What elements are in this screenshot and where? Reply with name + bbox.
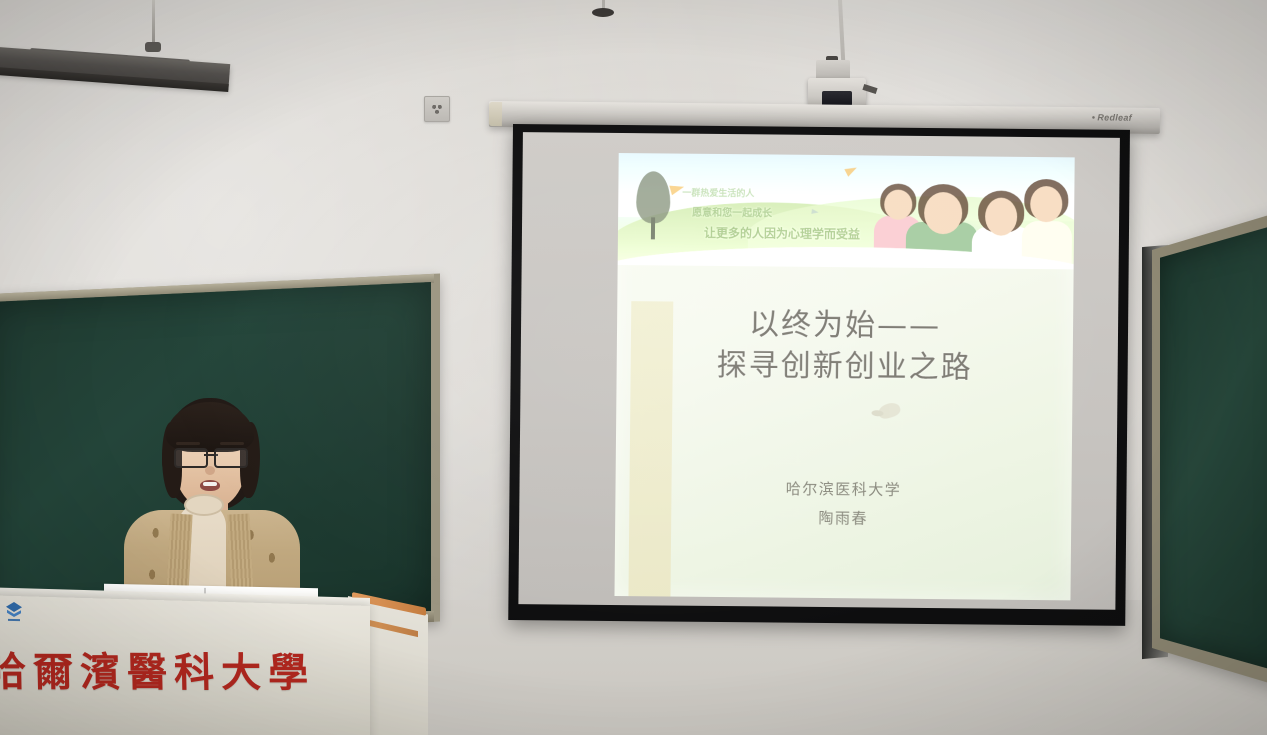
presenter-eyebrow-left [176, 442, 200, 445]
presenter-eyebrow-right [220, 442, 244, 445]
university-logo-icon [4, 601, 24, 624]
light-mount [145, 42, 161, 52]
eyeglasses-icon [174, 448, 248, 464]
screen-brand-label: Redleaf [1092, 112, 1132, 122]
chalkboard-right-surface [1160, 221, 1267, 674]
dove-icon [877, 401, 902, 421]
slide-presenter-name: 陶雨春 [615, 502, 1071, 535]
banner-line-1: 一群热爱生活的人 [682, 186, 978, 202]
lecture-hall-screenshot: Redleaf [0, 0, 1267, 735]
projection-screen: 一群热爱生活的人 愿意和您一起成长 让更多的人因为心理学而受益 以终为始—— 探… [508, 124, 1130, 626]
presenter-collar [184, 494, 224, 516]
projection-screen-surface: 一群热爱生活的人 愿意和您一起成长 让更多的人因为心理学而受益 以终为始—— 探… [518, 132, 1120, 610]
presenter-mouth [200, 480, 220, 491]
chalkboard-right [1152, 207, 1267, 691]
podium-institution-name: 哈爾濱醫科大學 [0, 639, 316, 698]
presenter-nose [205, 466, 215, 475]
slide-title: 以终为始—— 探寻创新创业之路 [616, 303, 1073, 390]
slide-title-line-1: 以终为始—— [749, 307, 941, 344]
presenter [112, 398, 312, 610]
slide-title-line-2: 探寻创新创业之路 [616, 344, 1072, 390]
banner-line-2: 愿意和您一起成长 [692, 204, 978, 222]
presentation-slide: 一群热爱生活的人 愿意和您一起成长 让更多的人因为心理学而受益 以终为始—— 探… [614, 153, 1074, 600]
light-suspension-rod [152, 0, 155, 46]
second-light-fixture-icon [592, 8, 614, 17]
slide-banner-image: 一群热爱生活的人 愿意和您一起成长 让更多的人因为心理学而受益 [618, 153, 1075, 269]
slide-affiliation: 哈尔滨医科大学 [615, 473, 1071, 506]
banner-line-3: 让更多的人因为心理学而受益 [704, 224, 978, 244]
banner-tree-icon [636, 171, 671, 239]
screen-housing-end-cap [489, 102, 502, 126]
slide-banner-text: 一群热爱生活的人 愿意和您一起成长 让更多的人因为心理学而受益 [678, 186, 979, 244]
slide-subtitle: 哈尔滨医科大学 陶雨春 [615, 473, 1072, 534]
wall-power-outlet-icon[interactable] [424, 96, 450, 122]
projector-mount-stem [816, 60, 850, 80]
